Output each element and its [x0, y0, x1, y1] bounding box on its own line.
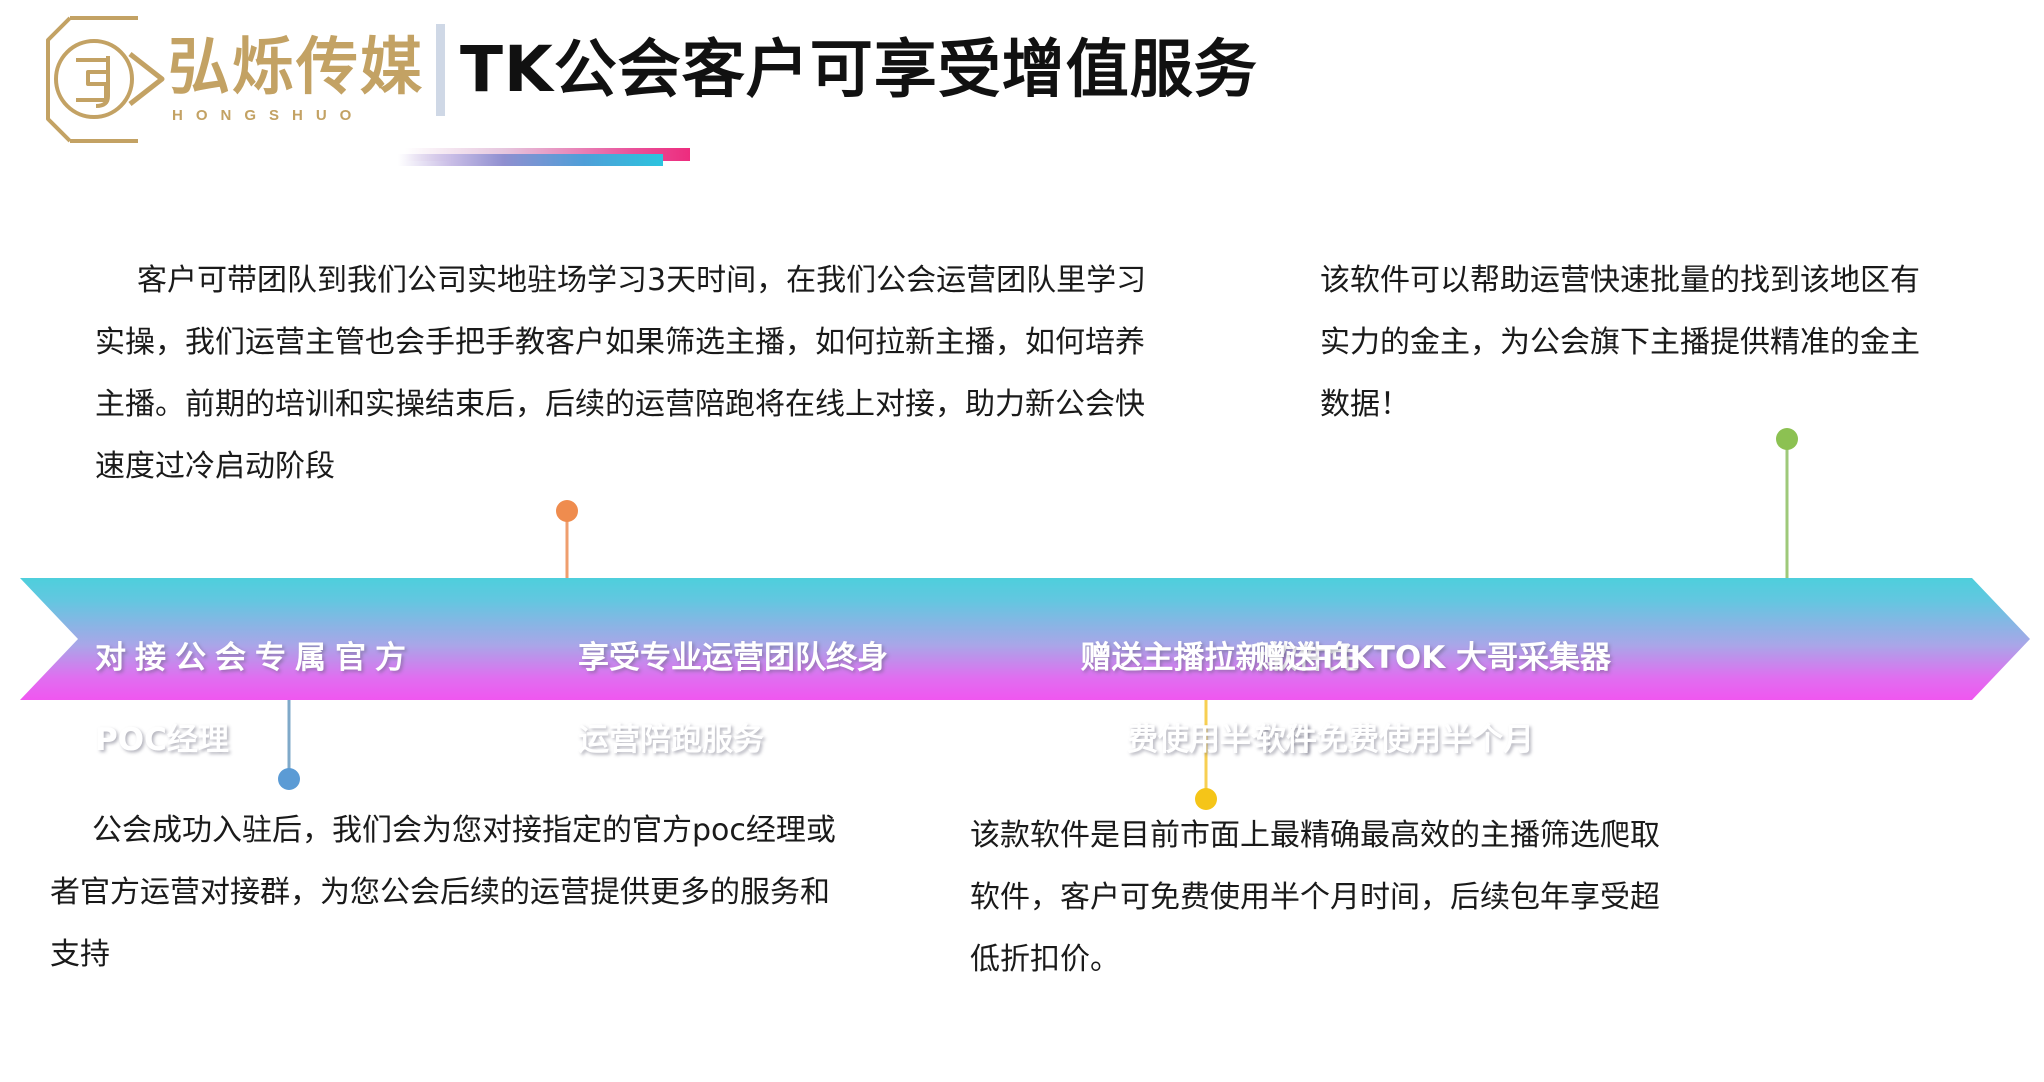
connector-green-stem: [1786, 439, 1789, 583]
connector-green: [1776, 428, 1798, 582]
process-step-2-label: 享受专业运营团队终身 运营陪跑服务: [578, 597, 978, 802]
paragraph-bottom-left-text: 公会成功入驻后，我们会为您对接指定的官方poc经理或者官方运营对接群，为您公会后…: [50, 800, 850, 986]
paragraph-bottom-right: 该款软件是目前市面上最精确最高效的主播筛选爬取软件，客户可免费使用半个月时间，后…: [970, 805, 1670, 991]
process-step-1-line2: POC经理: [95, 720, 495, 761]
paragraph-top-left-text: 客户可带团队到我们公司实地驻场学习3天时间，在我们公会运营团队里学习实操，我们运…: [95, 250, 1155, 498]
hongshuo-logo-mark: [30, 12, 175, 147]
process-step-2-line1: 享受专业运营团队终身: [578, 638, 978, 679]
process-step-2-line2: 运营陪跑服务: [578, 720, 978, 761]
process-step-4-line1: 赠送TIKTOK 大哥采集器: [1255, 638, 1705, 679]
connector-green-dot: [1776, 428, 1798, 450]
connector-orange: [556, 500, 578, 582]
paragraph-top-right-text: 该软件可以帮助运营快速批量的找到该地区有实力的金主，为公会旗下主播提供精准的金主…: [1320, 250, 1920, 436]
process-step-1-label: 对接公会专属官方 POC经理: [95, 597, 495, 802]
paragraph-top-left: 客户可带团队到我们公司实地驻场学习3天时间，在我们公会运营团队里学习实操，我们运…: [95, 250, 1155, 498]
process-step-4-label: 赠送TIKTOK 大哥采集器 软件免费使用半个月: [1255, 597, 1705, 802]
paragraph-bottom-left: 公会成功入驻后，我们会为您对接指定的官方poc经理或者官方运营对接群，为您公会后…: [50, 800, 850, 986]
header-accent-bar-cyan: [398, 154, 663, 166]
process-step-4-line2: 软件免费使用半个月: [1255, 720, 1705, 761]
title-divider: [436, 24, 445, 116]
process-step-1-line1: 对接公会专属官方: [95, 638, 495, 679]
slide-canvas: 弘烁传媒 HONGSHUO TK公会客户可享受增值服务 客户可带团队到我们公司实…: [0, 0, 2044, 1082]
page-title: TK公会客户可享受增值服务: [460, 24, 1258, 116]
paragraph-top-right: 该软件可以帮助运营快速批量的找到该地区有实力的金主，为公会旗下主播提供精准的金主…: [1320, 250, 1920, 436]
paragraph-bottom-right-text: 该款软件是目前市面上最精确最高效的主播筛选爬取软件，客户可免费使用半个月时间，后…: [970, 805, 1670, 991]
slide-header: 弘烁传媒 HONGSHUO TK公会客户可享受增值服务: [0, 0, 2044, 180]
logo-wordmark: 弘烁传媒: [168, 36, 424, 98]
logo-subtext: HONGSHUO: [172, 108, 364, 123]
connector-orange-dot: [556, 500, 578, 522]
